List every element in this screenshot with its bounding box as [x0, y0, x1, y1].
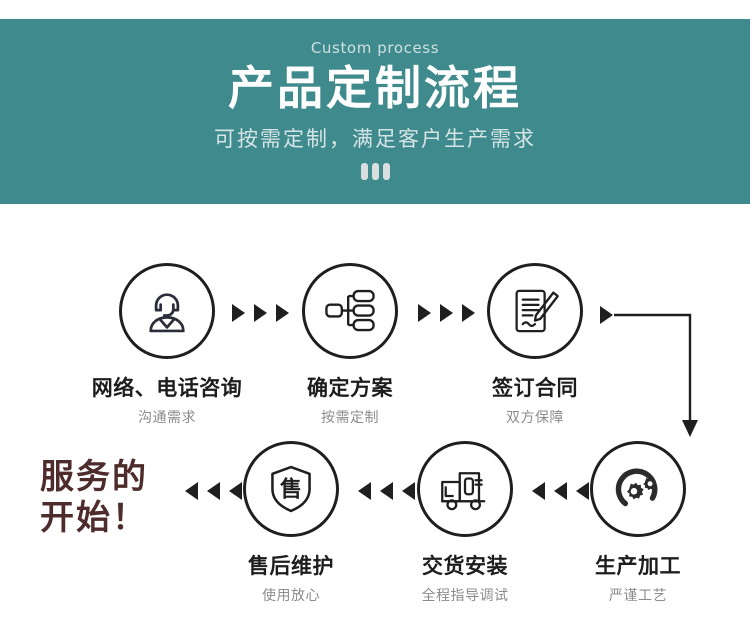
- process-step-production[interactable]: 生产加工 严谨工艺: [553, 441, 723, 605]
- customer-service-icon: [138, 282, 196, 340]
- banner-eyebrow: Custom process: [311, 39, 439, 57]
- arrow-right-icon: [418, 304, 431, 322]
- contract-signing-icon: [507, 283, 563, 339]
- shield-after-sales-icon: 售: [264, 462, 318, 516]
- corner-arrow-icon: [600, 304, 740, 444]
- delivery-truck-icon-circle: [417, 441, 513, 537]
- flowchart-icon: [321, 282, 379, 340]
- arrow-left-icon: [358, 482, 371, 500]
- process-step-after-sales[interactable]: 售 售后维护 使用放心: [206, 441, 376, 605]
- step-subtitle: 严谨工艺: [553, 585, 723, 605]
- process-step-contract[interactable]: 签订合同 双方保障: [450, 263, 620, 427]
- process-step-consultation[interactable]: 网络、电话咨询 沟通需求: [82, 263, 252, 427]
- arrow-left-icon: [532, 482, 545, 500]
- dot-bar: [383, 163, 390, 180]
- shield-after-sales-icon-circle: 售: [243, 441, 339, 537]
- process-step-delivery[interactable]: 交货安装 全程指导调试: [380, 441, 550, 605]
- service-start-label: 服务的 开始！: [40, 457, 190, 540]
- arrow-left-icon: [185, 482, 198, 500]
- customer-service-icon-circle: [119, 263, 215, 359]
- step-subtitle: 双方保障: [450, 407, 620, 427]
- contract-signing-icon-circle: [487, 263, 583, 359]
- page-title: 产品定制流程: [228, 63, 522, 115]
- banner-subtitle: 可按需定制，满足客户生产需求: [214, 123, 536, 153]
- gears-production-icon: [609, 460, 667, 518]
- step-title: 交货安装: [380, 550, 550, 580]
- dot-bar: [372, 163, 379, 180]
- banner-dots-decoration: [361, 163, 390, 180]
- service-start-label-line2: 开始！: [40, 498, 190, 539]
- header-banner: Custom process 产品定制流程 可按需定制，满足客户生产需求: [0, 19, 750, 204]
- dot-bar: [361, 163, 368, 180]
- step-subtitle: 按需定制: [265, 407, 435, 427]
- flowchart-icon-circle: [302, 263, 398, 359]
- step-title: 确定方案: [265, 372, 435, 402]
- step-title: 生产加工: [553, 550, 723, 580]
- gears-production-icon-circle: [590, 441, 686, 537]
- step-subtitle: 全程指导调试: [380, 585, 550, 605]
- process-step-plan[interactable]: 确定方案 按需定制: [265, 263, 435, 427]
- step-subtitle: 使用放心: [206, 585, 376, 605]
- step-subtitle: 沟通需求: [82, 407, 252, 427]
- service-start-label-line1: 服务的: [40, 457, 190, 498]
- svg-text:售: 售: [280, 477, 302, 503]
- custom-process-infographic: Custom process 产品定制流程 可按需定制，满足客户生产需求: [0, 0, 750, 643]
- step-title: 售后维护: [206, 550, 376, 580]
- step-title: 网络、电话咨询: [82, 372, 252, 402]
- process-flow: 网络、电话咨询 沟通需求: [0, 204, 750, 643]
- flow-connector-arrow: [600, 304, 740, 444]
- step-title: 签订合同: [450, 372, 620, 402]
- delivery-truck-icon: [437, 461, 493, 517]
- arrow-right-icon: [232, 304, 245, 322]
